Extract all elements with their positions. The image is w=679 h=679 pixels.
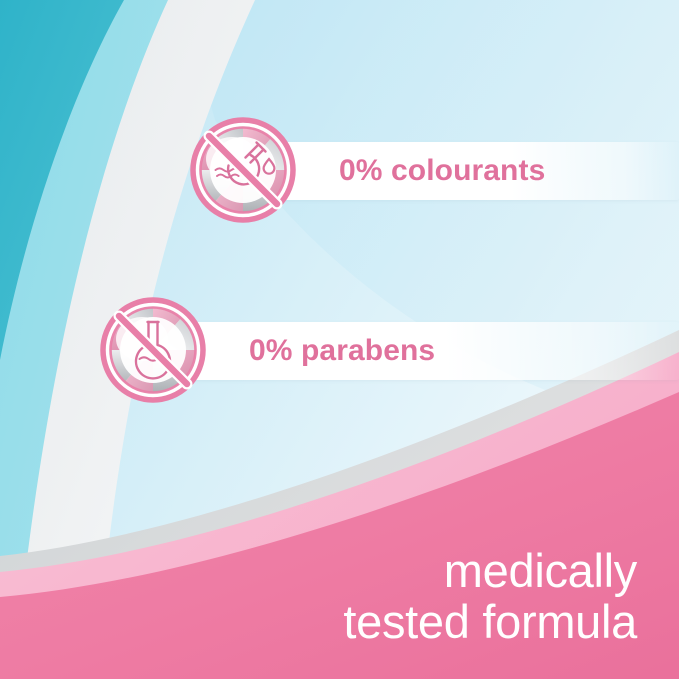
claim-row-parabens: 0% parabens: [96, 302, 679, 398]
headline: medically tested formula: [343, 546, 637, 647]
claim-label-parabens: 0% parabens: [249, 322, 435, 380]
claim-row-colourants: 0% colourants: [186, 122, 679, 218]
no-colourants-badge-icon: [186, 113, 300, 227]
product-claims-poster: 0% colourants: [0, 0, 679, 679]
headline-line-1: medically: [343, 546, 637, 596]
headline-line-2: tested formula: [343, 597, 637, 647]
claim-label-colourants: 0% colourants: [339, 142, 545, 200]
no-parabens-badge-icon: [96, 293, 210, 407]
